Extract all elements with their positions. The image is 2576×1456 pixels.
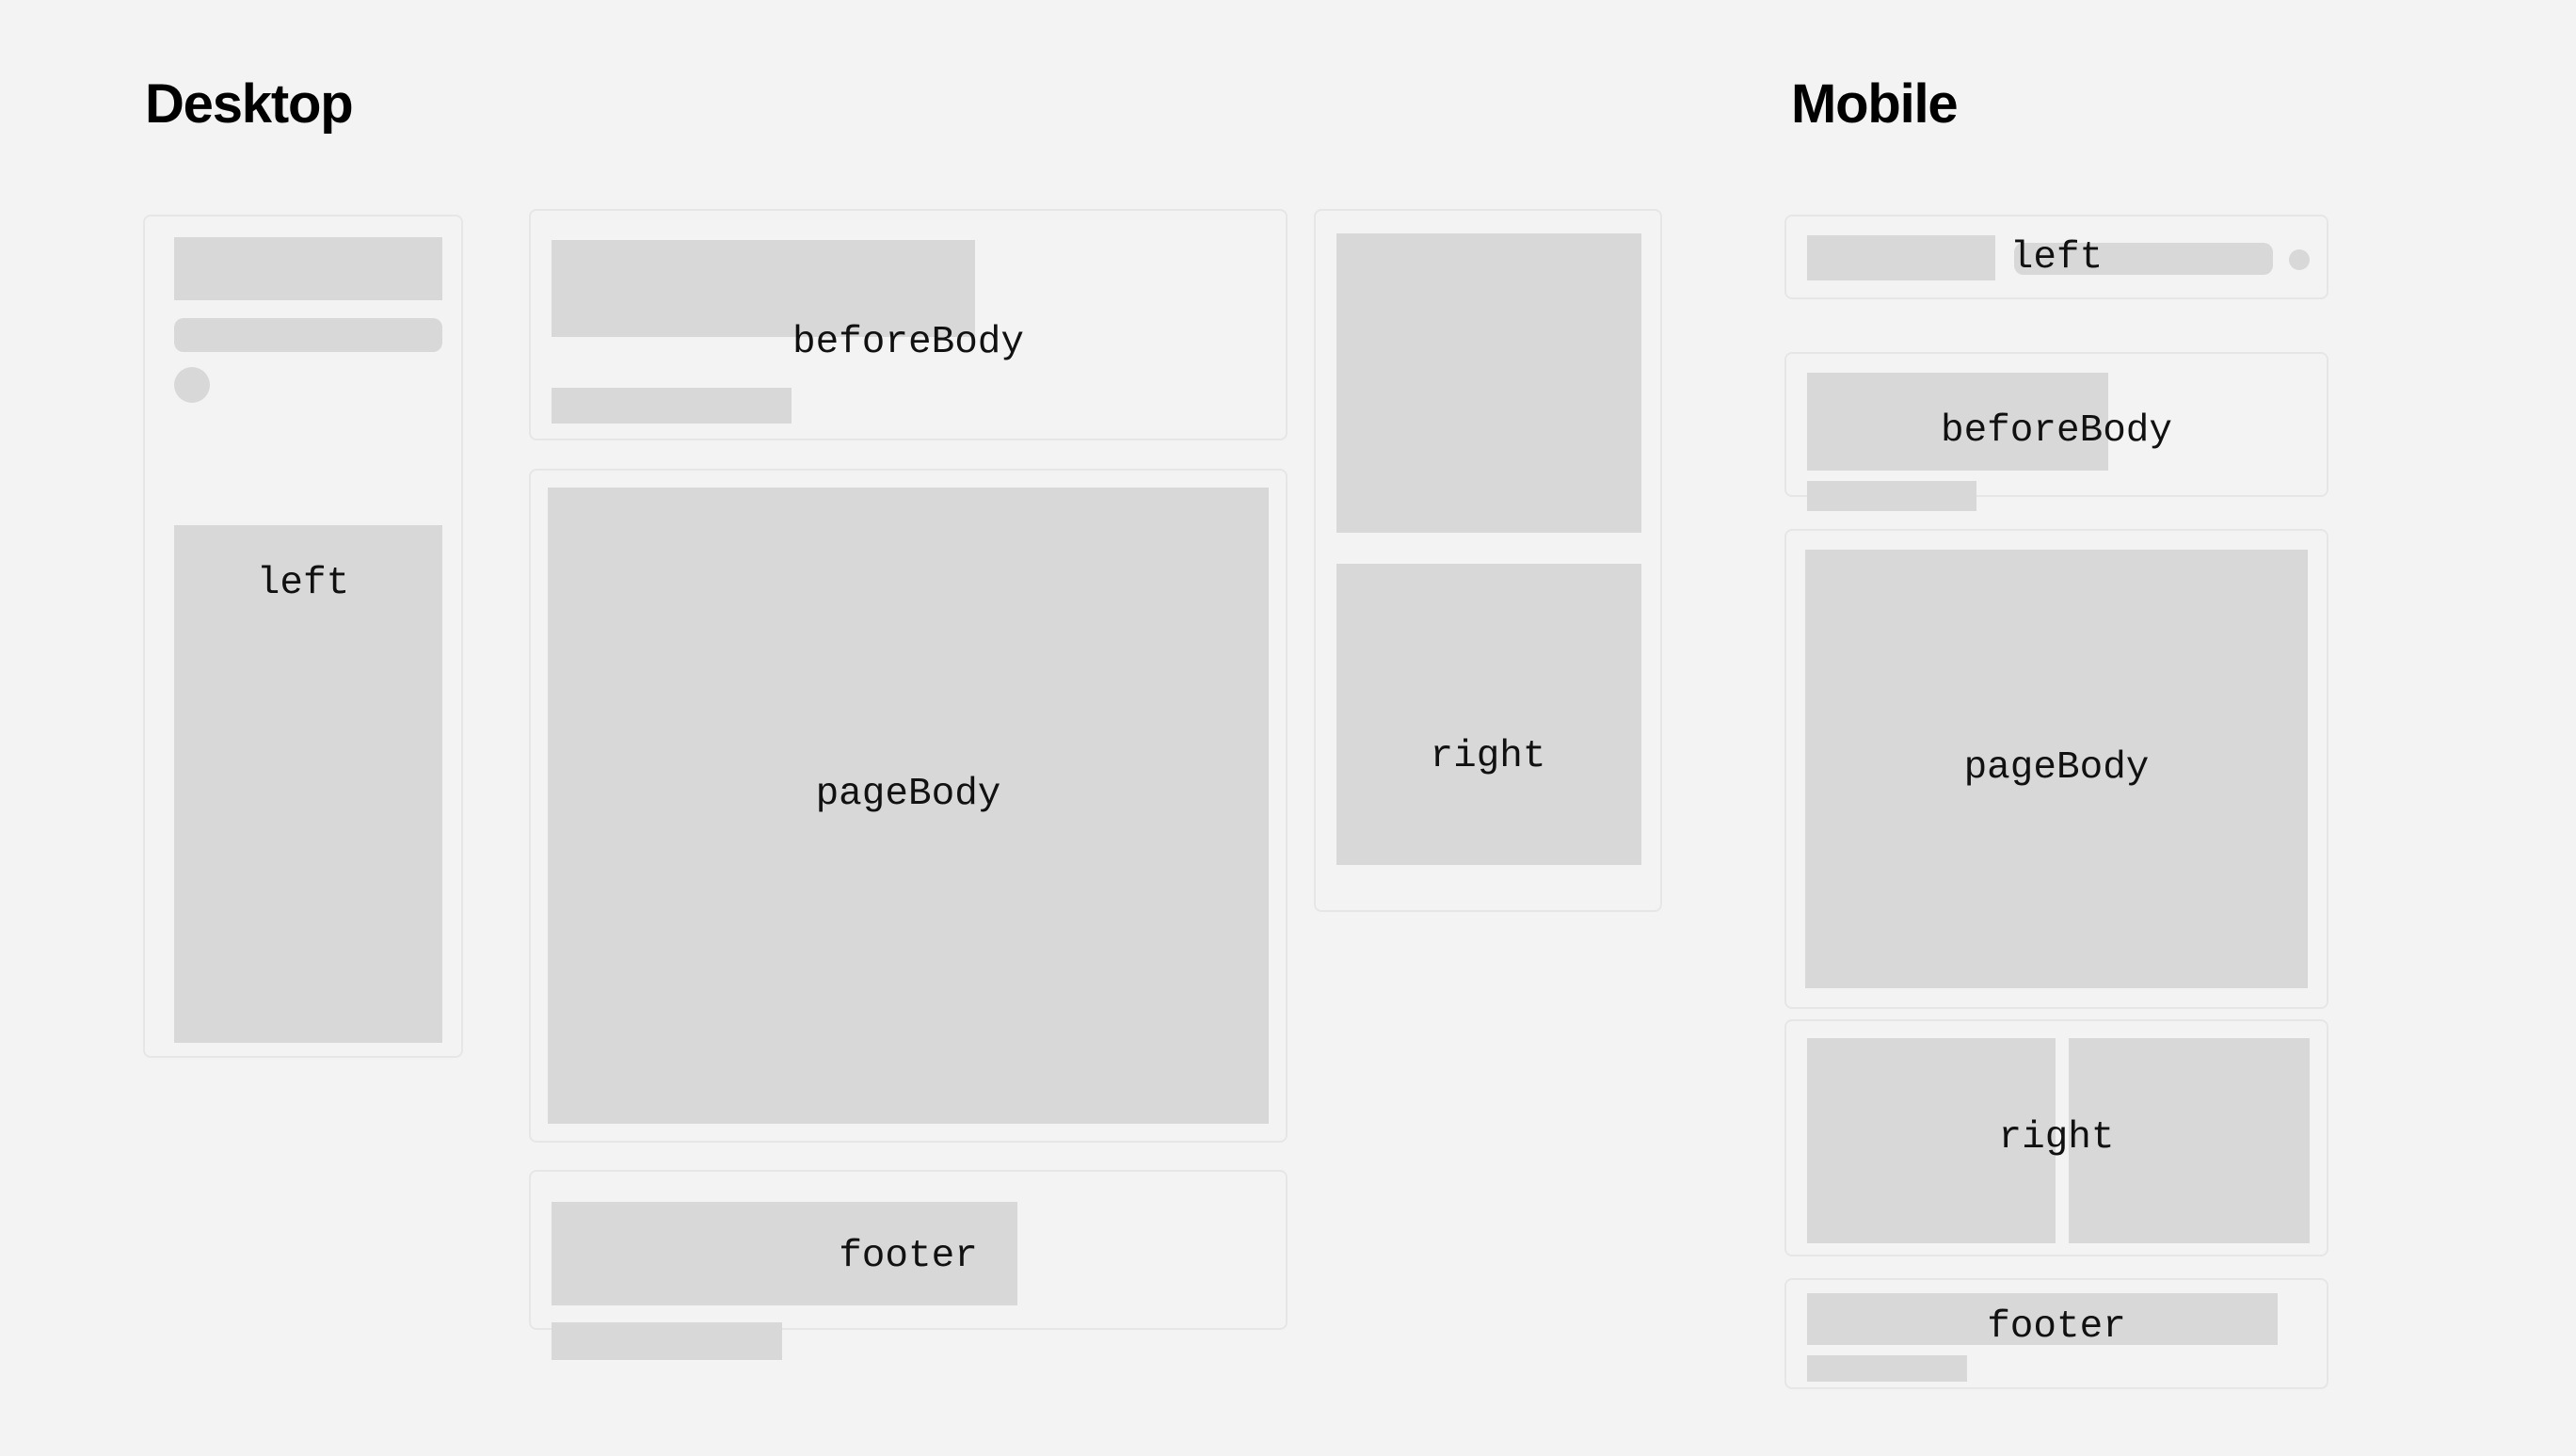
mobile-pagebody-content: pageBody [1786, 531, 2327, 1007]
skeleton-bar [552, 1322, 782, 1360]
desktop-left-content: left [145, 216, 461, 1056]
skeleton-circle [174, 367, 210, 403]
mobile-right-content: right [1786, 1021, 2327, 1255]
skeleton-block [1336, 233, 1641, 533]
skeleton-bar [1807, 1355, 1967, 1382]
mobile-slot-beforebody[interactable]: beforeBody [1784, 352, 2328, 497]
skeleton-block [2069, 1038, 2310, 1243]
skeleton-bar [1807, 481, 1976, 511]
mobile-slot-footer[interactable]: footer [1784, 1278, 2328, 1389]
mobile-beforebody-content: beforeBody [1786, 354, 2327, 495]
desktop-right-content: right [1316, 211, 1660, 910]
mobile-slot-left[interactable]: left [1784, 215, 2328, 299]
desktop-slot-left[interactable]: left [143, 215, 463, 1058]
desktop-footer-content: footer [531, 1172, 1286, 1328]
skeleton-block [552, 1202, 1017, 1305]
skeleton-rounded-bar [2014, 243, 2273, 275]
skeleton-rect [174, 237, 442, 300]
skeleton-block [1805, 550, 2308, 988]
layout-preview-stage: Desktop left beforeBody pageBody right [0, 0, 2576, 1456]
mobile-slot-pagebody[interactable]: pageBody [1784, 529, 2328, 1009]
desktop-slot-footer[interactable]: footer [529, 1170, 1288, 1330]
desktop-beforebody-content: beforeBody [531, 211, 1286, 439]
mobile-section-heading: Mobile [1791, 77, 1957, 132]
desktop-slot-right[interactable]: right [1314, 209, 1662, 912]
skeleton-rect [1807, 235, 1995, 280]
skeleton-block [1336, 564, 1641, 865]
mobile-left-content: left [1786, 216, 2327, 297]
skeleton-block [1807, 373, 2108, 471]
skeleton-rounded-bar [174, 318, 442, 352]
mobile-slot-right[interactable]: right [1784, 1019, 2328, 1256]
desktop-section-heading: Desktop [145, 77, 352, 132]
skeleton-block [1807, 1038, 2056, 1243]
skeleton-block [552, 240, 975, 337]
desktop-slot-pagebody[interactable]: pageBody [529, 469, 1288, 1143]
desktop-slot-beforebody[interactable]: beforeBody [529, 209, 1288, 440]
skeleton-circle [2289, 249, 2310, 270]
desktop-pagebody-content: pageBody [531, 471, 1286, 1141]
mobile-footer-content: footer [1786, 1280, 2327, 1387]
skeleton-block [174, 525, 442, 1043]
skeleton-bar [552, 388, 792, 424]
skeleton-block [548, 488, 1269, 1124]
skeleton-block [1807, 1293, 2278, 1345]
